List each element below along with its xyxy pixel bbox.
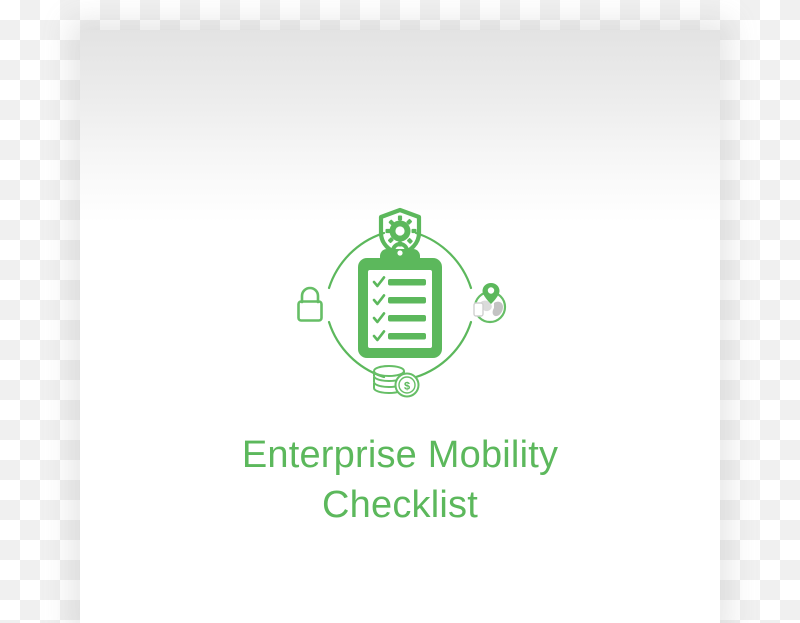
shield-gear-icon bbox=[381, 210, 419, 255]
title-line-1: Enterprise Mobility bbox=[110, 430, 690, 480]
enterprise-mobility-checklist-diagram: $ bbox=[285, 205, 515, 405]
padlock-icon bbox=[299, 288, 322, 321]
white-page-card: $ bbox=[80, 30, 720, 623]
title-line-2: Checklist bbox=[110, 480, 690, 530]
card-content: $ bbox=[80, 30, 720, 623]
page-title: Enterprise Mobility Checklist bbox=[80, 430, 720, 530]
coins-dollar-icon: $ bbox=[374, 366, 419, 397]
canvas-stage: $ bbox=[0, 0, 800, 623]
svg-text:$: $ bbox=[404, 381, 410, 393]
clipboard-checklist-icon bbox=[358, 244, 442, 358]
globe-location-pin-icon bbox=[474, 283, 505, 322]
